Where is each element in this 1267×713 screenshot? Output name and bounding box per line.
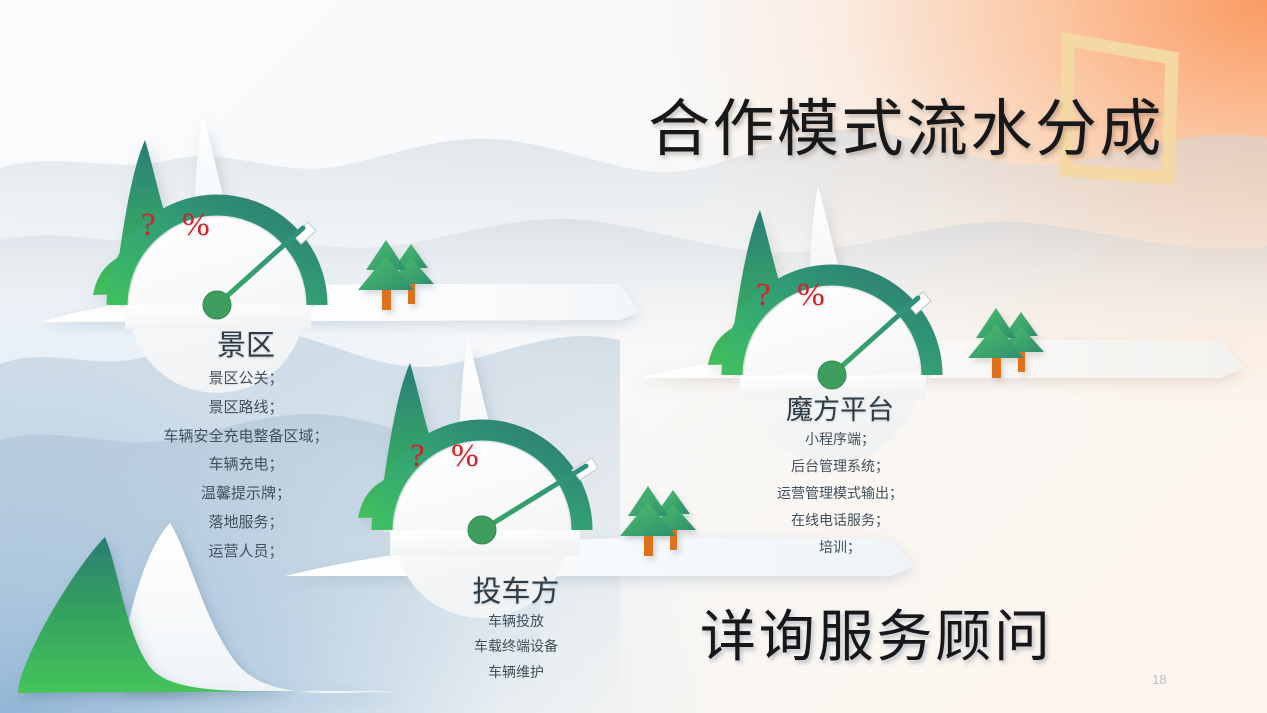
list-item: 车载终端设备	[416, 635, 616, 660]
group-list-vehicle: 车辆投放 车载终端设备 车辆维护	[416, 610, 616, 686]
group-title-platform: 魔方平台	[740, 388, 940, 427]
page-number: 18	[1152, 672, 1166, 687]
gauge-value-vehicle: ? %	[410, 438, 482, 475]
gauge-icon-vehicle	[340, 318, 650, 558]
list-item: 后台管理系统；	[715, 455, 965, 482]
cta-heading: 详询服务顾问	[700, 592, 1053, 673]
slide-canvas: 合作模式流水分成	[0, 0, 1267, 713]
gauge-icon-scenic	[75, 95, 375, 325]
list-item: 培训；	[715, 536, 965, 563]
gauge-value-scenic: ? %	[141, 207, 213, 244]
list-item: 车辆维护	[416, 661, 616, 686]
group-title-vehicle: 投车方	[418, 568, 614, 610]
list-item: 在线电话服务；	[715, 509, 965, 536]
list-item: 车辆投放	[416, 610, 616, 635]
list-item: 运营管理模式输出；	[715, 482, 965, 509]
gauge-meter-scenic: ? %	[75, 95, 375, 325]
group-list-platform: 小程序端； 后台管理系统； 运营管理模式输出； 在线电话服务； 培训；	[715, 428, 965, 562]
group-title-scenic: 景区	[148, 322, 344, 364]
gauge-meter-vehicle: ? %	[340, 318, 640, 553]
list-item: 小程序端；	[715, 428, 965, 455]
gauge-meter-platform: ? %	[690, 165, 990, 395]
page-title: 合作模式流水分成	[648, 78, 1164, 168]
gauge-icon-platform	[690, 165, 990, 395]
gauge-value-platform: ? %	[756, 277, 828, 314]
